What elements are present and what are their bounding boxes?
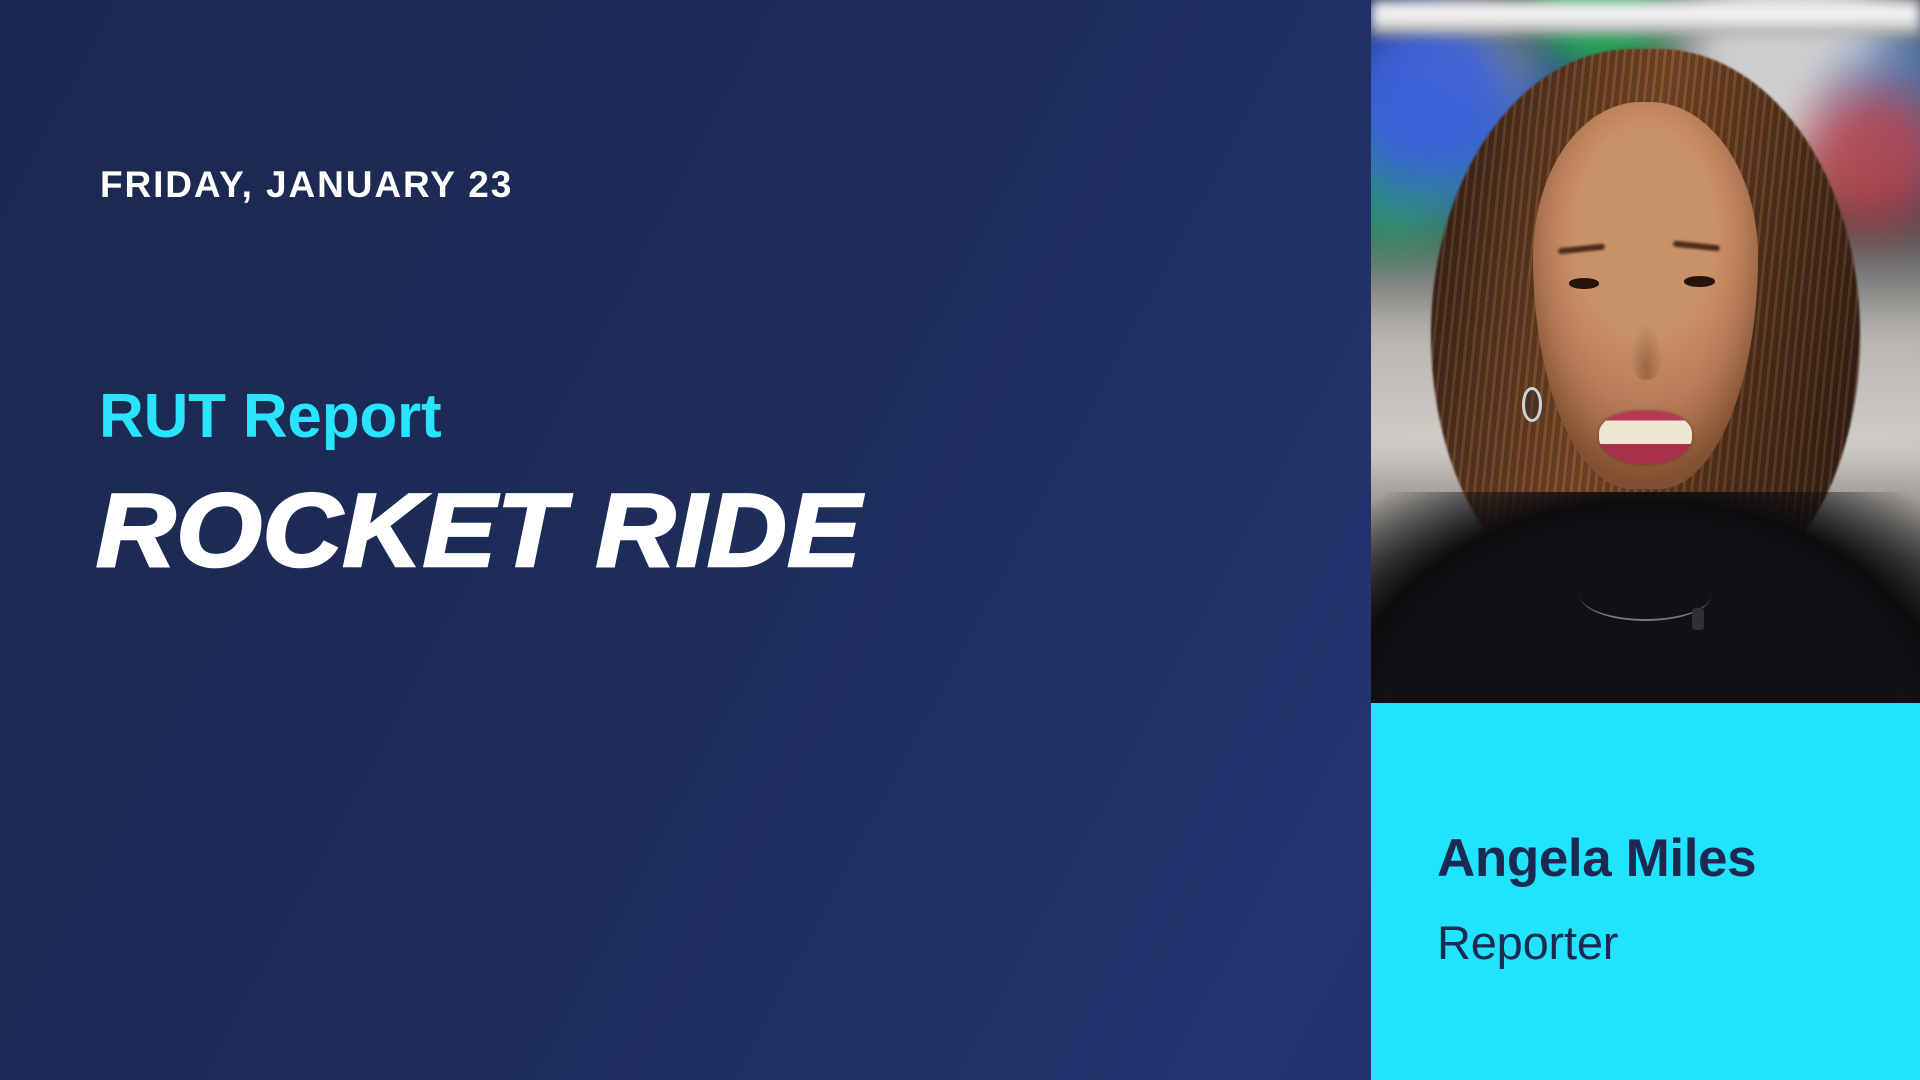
smile — [1599, 411, 1692, 464]
earring — [1522, 387, 1542, 423]
reporter-role: Reporter — [1437, 915, 1618, 970]
lower-third-banner — [1371, 703, 1920, 1080]
date-kicker: FRIDAY, JANUARY 23 — [100, 164, 513, 206]
show-name: RUT Report — [99, 381, 441, 452]
avatar — [1371, 0, 1920, 703]
eye-right — [1684, 276, 1715, 287]
reporter-name: Angela Miles — [1437, 828, 1756, 889]
lapel-microphone-icon — [1692, 608, 1704, 630]
page-title: ROCKET RIDE — [96, 477, 861, 585]
reporter-photo — [1371, 0, 1920, 703]
talent-rail: Angela Miles Reporter — [1371, 0, 1920, 1080]
broadcast-slide: FRIDAY, JANUARY 23 RUT Report ROCKET RID… — [0, 0, 1920, 1080]
headline-panel: FRIDAY, JANUARY 23 RUT Report ROCKET RID… — [0, 0, 1371, 1080]
nose — [1630, 323, 1663, 379]
eye-left — [1569, 278, 1600, 289]
